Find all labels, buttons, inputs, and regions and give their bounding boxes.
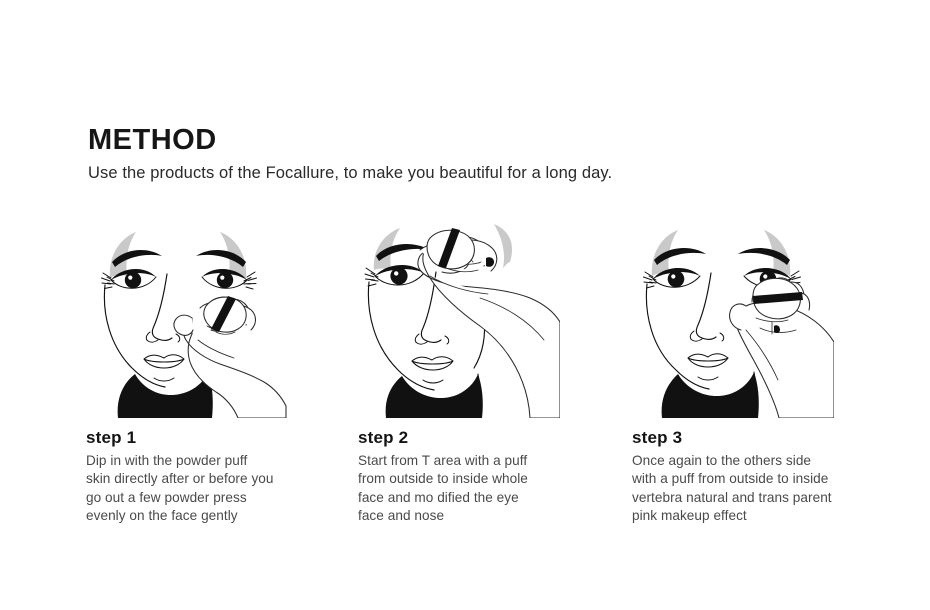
step-label-1: step 1 bbox=[86, 428, 356, 448]
page-subtitle: Use the products of the Focallure, to ma… bbox=[88, 164, 848, 184]
face-with-puff-across-forehead-icon bbox=[360, 222, 560, 418]
step-body-3: Once again to the others side with a puf… bbox=[632, 452, 900, 526]
face-with-puff-on-cheek-icon bbox=[88, 222, 288, 418]
step-card-2: step 2 Start from T area with a puff fro… bbox=[356, 222, 628, 526]
steps-row: step 1 Dip in with the powder puff skin … bbox=[0, 222, 930, 526]
step-body-1: Dip in with the powder puff skin directl… bbox=[86, 452, 356, 526]
face-with-puff-vertical-on-cheek-icon bbox=[634, 222, 834, 418]
step-body-2: Start from T area with a puff from outsi… bbox=[358, 452, 628, 526]
header: METHOD Use the products of the Focallure… bbox=[88, 126, 848, 184]
page-title: METHOD bbox=[88, 126, 848, 155]
step-label-2: step 2 bbox=[358, 428, 628, 448]
infographic-page: METHOD Use the products of the Focallure… bbox=[0, 0, 930, 610]
step-label-3: step 3 bbox=[632, 428, 900, 448]
step-card-3: step 3 Once again to the others side wit… bbox=[628, 222, 900, 526]
step-card-1: step 1 Dip in with the powder puff skin … bbox=[84, 222, 356, 526]
